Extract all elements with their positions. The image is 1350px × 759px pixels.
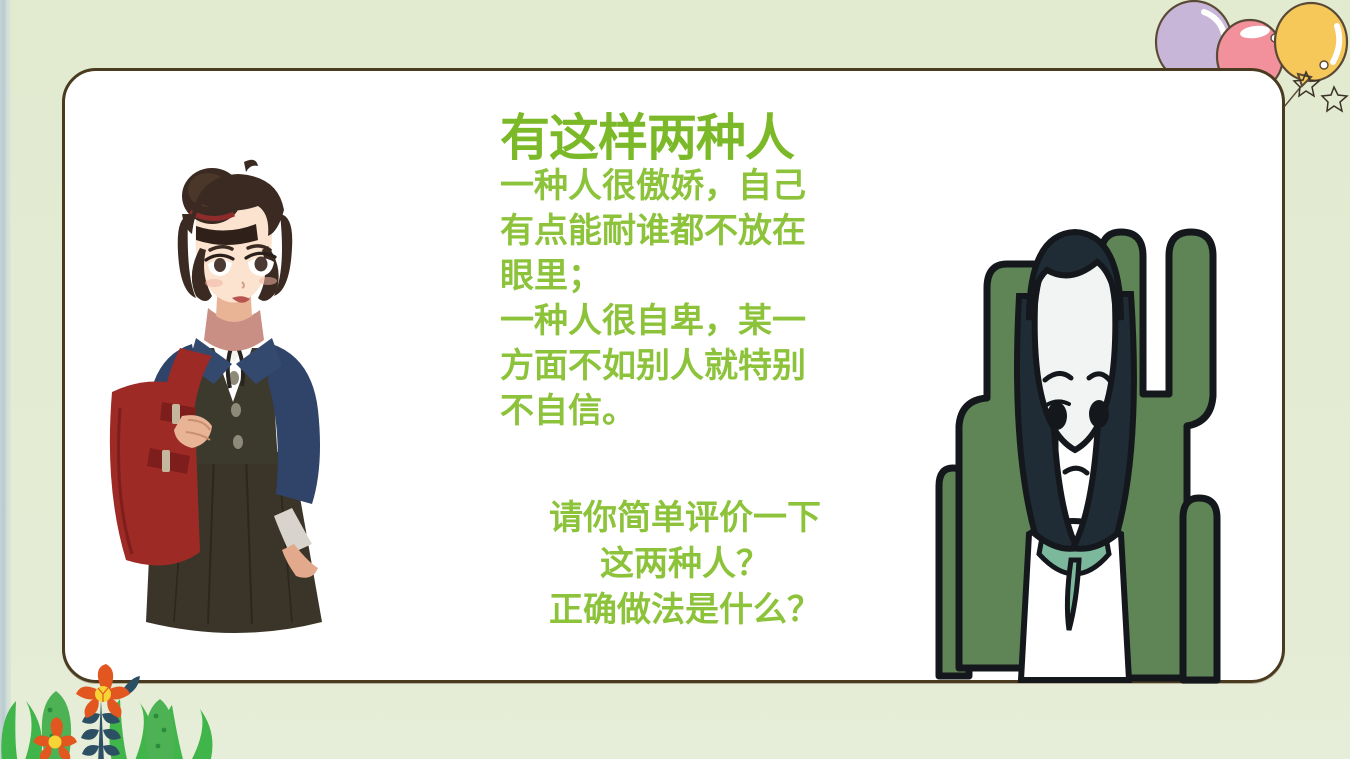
page-title: 有这样两种人	[500, 112, 872, 164]
question-line-3: 正确做法是什么？	[480, 587, 890, 633]
question-line-2: 这两种人？	[480, 541, 890, 587]
body-line-6: 不自信。	[500, 389, 872, 434]
slide-canvas: 有这样两种人 一种人很傲娇，自己 有点能耐谁都不放在 眼里； 一种人很自卑，某一…	[0, 0, 1350, 759]
flowers-decoration	[0, 658, 224, 759]
schoolgirl-illustration	[96, 152, 376, 672]
body-line-4: 一种人很自卑，某一	[500, 299, 872, 344]
question-line-1: 请你简单评价一下	[480, 495, 890, 541]
left-edge-strip	[0, 0, 11, 759]
body-line-5: 方面不如别人就特别	[500, 344, 872, 389]
question-block: 请你简单评价一下 这两种人？ 正确做法是什么？	[480, 495, 890, 633]
orange-lily	[76, 664, 130, 718]
body-line-2: 有点能耐谁都不放在	[500, 209, 872, 254]
main-text-column: 有这样两种人 一种人很傲娇，自己 有点能耐谁都不放在 眼里； 一种人很自卑，某一…	[500, 112, 872, 434]
yellow-balloon	[1275, 3, 1347, 86]
sad-girl-illustration	[925, 168, 1225, 680]
body-line-1: 一种人很傲娇，自己	[500, 164, 872, 209]
body-line-3: 眼里；	[500, 254, 872, 299]
